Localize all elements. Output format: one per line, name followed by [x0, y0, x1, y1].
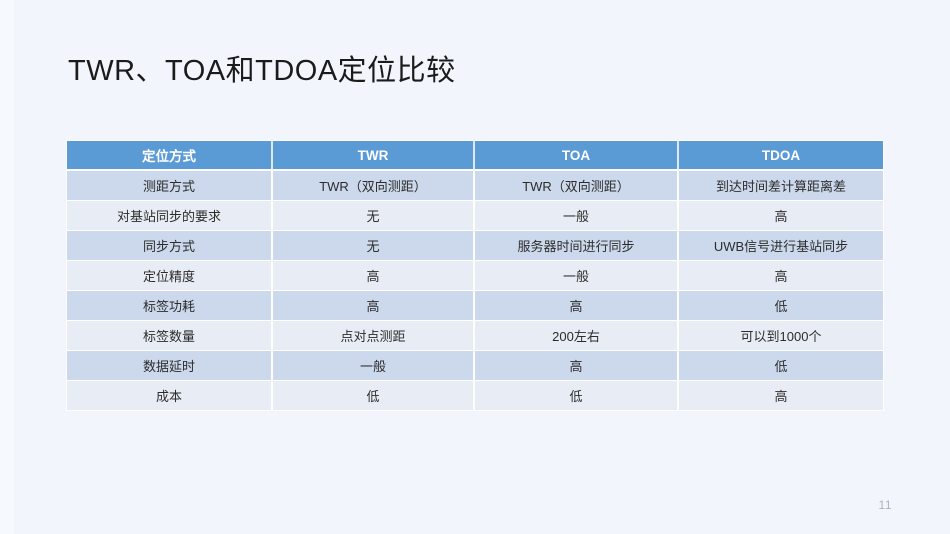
- row-label: 测距方式: [67, 171, 273, 201]
- cell-tdoa: 低: [679, 351, 883, 381]
- comparison-table: 定位方式 TWR TOA TDOA 测距方式 TWR（双向测距） TWR（双向测…: [67, 141, 883, 410]
- cell-tdoa: 可以到1000个: [679, 321, 883, 351]
- cell-tdoa: 到达时间差计算距离差: [679, 171, 883, 201]
- column-header-toa: TOA: [475, 141, 679, 171]
- row-label: 成本: [67, 381, 273, 410]
- page-number: 11: [879, 498, 892, 512]
- cell-twr: 高: [273, 291, 475, 321]
- table-row: 数据延时 一般 高 低: [67, 351, 883, 381]
- table-row: 标签功耗 高 高 低: [67, 291, 883, 321]
- cell-toa: 服务器时间进行同步: [475, 231, 679, 261]
- cell-toa: 高: [475, 351, 679, 381]
- table-header-row: 定位方式 TWR TOA TDOA: [67, 141, 883, 171]
- cell-tdoa: 高: [679, 381, 883, 410]
- cell-toa: 高: [475, 291, 679, 321]
- table-body: 测距方式 TWR（双向测距） TWR（双向测距） 到达时间差计算距离差 对基站同…: [67, 171, 883, 410]
- table-row: 同步方式 无 服务器时间进行同步 UWB信号进行基站同步: [67, 231, 883, 261]
- cell-twr: 无: [273, 231, 475, 261]
- cell-toa: 一般: [475, 201, 679, 231]
- cell-toa: 200左右: [475, 321, 679, 351]
- row-label: 定位精度: [67, 261, 273, 291]
- table-row: 对基站同步的要求 无 一般 高: [67, 201, 883, 231]
- cell-toa: 低: [475, 381, 679, 410]
- table-row: 测距方式 TWR（双向测距） TWR（双向测距） 到达时间差计算距离差: [67, 171, 883, 201]
- row-label: 数据延时: [67, 351, 273, 381]
- column-header-twr: TWR: [273, 141, 475, 171]
- cell-twr: 高: [273, 261, 475, 291]
- cell-twr: TWR（双向测距）: [273, 171, 475, 201]
- row-label: 标签功耗: [67, 291, 273, 321]
- cell-twr: 低: [273, 381, 475, 410]
- column-header-tdoa: TDOA: [679, 141, 883, 171]
- slide-canvas: TWR、TOA和TDOA定位比较 定位方式 TWR TOA TDOA 测距方式 …: [0, 0, 950, 534]
- table-row: 定位精度 高 一般 高: [67, 261, 883, 291]
- row-label: 标签数量: [67, 321, 273, 351]
- cell-toa: 一般: [475, 261, 679, 291]
- cell-twr: 无: [273, 201, 475, 231]
- column-header-method: 定位方式: [67, 141, 273, 171]
- row-label: 同步方式: [67, 231, 273, 261]
- cell-tdoa: 高: [679, 261, 883, 291]
- row-label: 对基站同步的要求: [67, 201, 273, 231]
- cell-twr: 点对点测距: [273, 321, 475, 351]
- cell-tdoa: UWB信号进行基站同步: [679, 231, 883, 261]
- cell-twr: 一般: [273, 351, 475, 381]
- table-row: 成本 低 低 高: [67, 381, 883, 410]
- cell-tdoa: 低: [679, 291, 883, 321]
- table-row: 标签数量 点对点测距 200左右 可以到1000个: [67, 321, 883, 351]
- page-title: TWR、TOA和TDOA定位比较: [68, 52, 456, 90]
- cell-toa: TWR（双向测距）: [475, 171, 679, 201]
- table-header: 定位方式 TWR TOA TDOA: [67, 141, 883, 171]
- cell-tdoa: 高: [679, 201, 883, 231]
